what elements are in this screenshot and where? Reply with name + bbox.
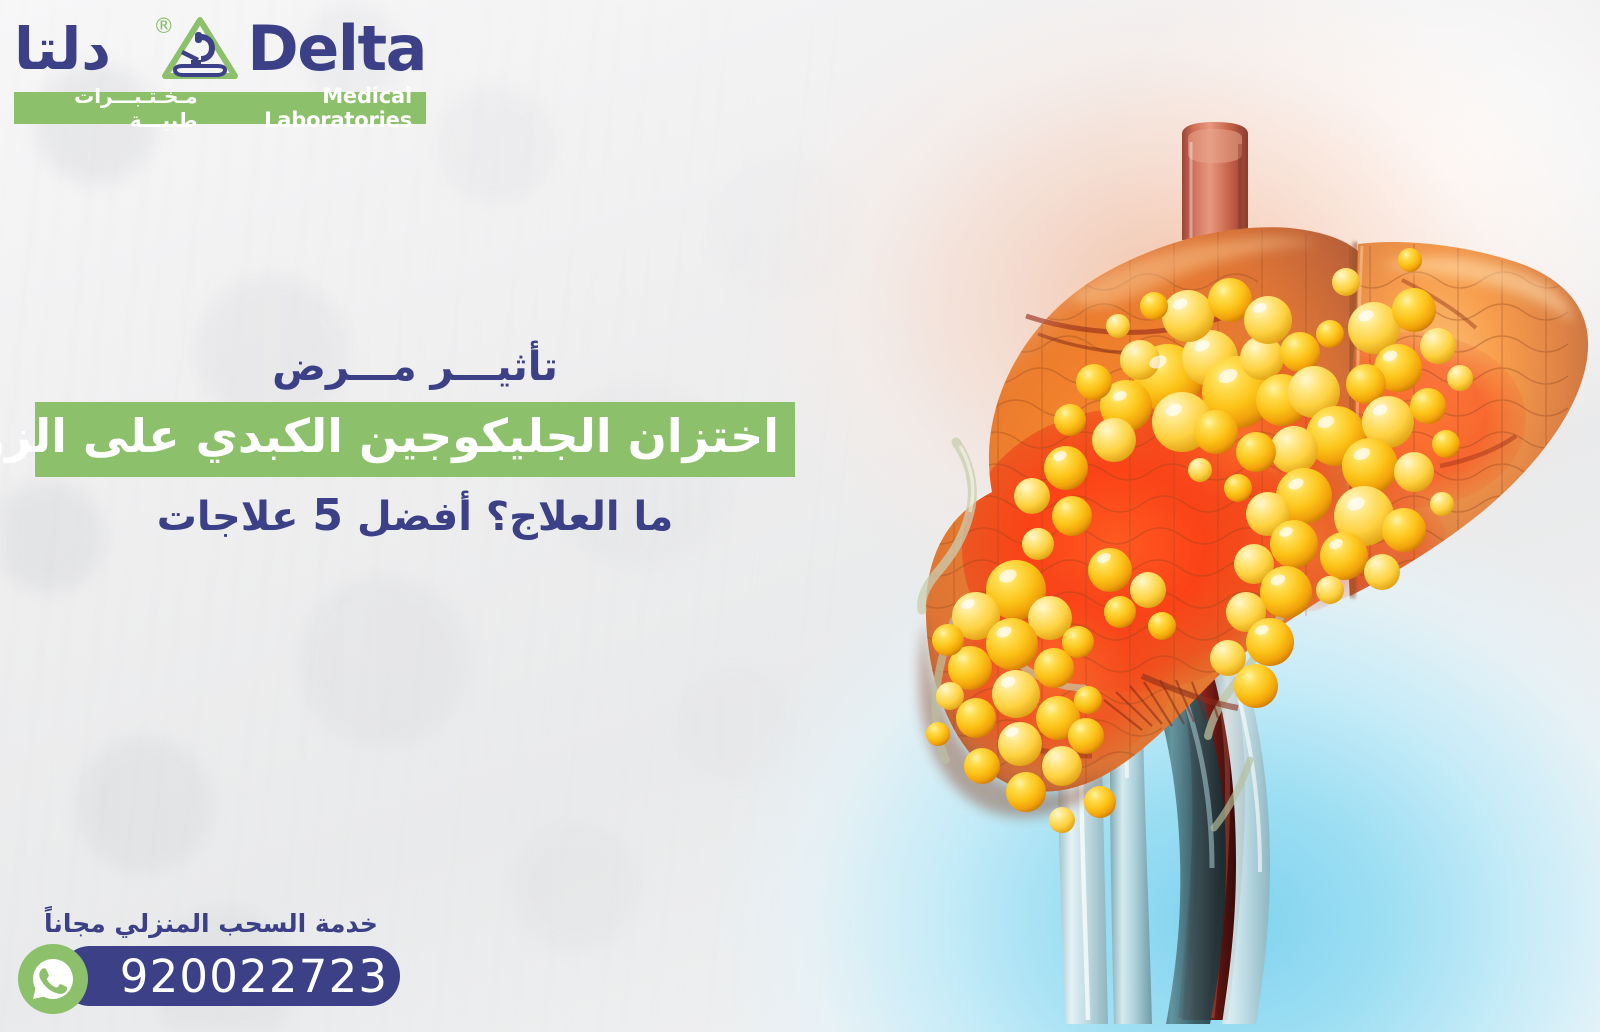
- headline-line-3-prefix: ما العلاج؟ أفضل: [357, 494, 673, 540]
- headline-treatment-count: 5: [312, 490, 343, 541]
- whatsapp-icon[interactable]: [18, 944, 88, 1014]
- headline-block: تأثيـــر مـــرض اختزان الجليكوجين الكبدي…: [35, 344, 795, 541]
- registered-trademark-icon: ®: [153, 16, 174, 37]
- home-service-caption: خدمة السحب المنزلي مجاناً: [18, 909, 418, 938]
- brand-logo[interactable]: Delta ® دلتا: [14, 8, 426, 124]
- logo-wordmark-latin: Delta: [247, 18, 426, 80]
- logo-tagline-arabic: مـخـتـبـــرات طبيـــة: [24, 84, 198, 132]
- contact-block: خدمة السحب المنزلي مجاناً 920022723: [18, 909, 418, 1010]
- microscope-triangle-icon: ®: [155, 14, 239, 84]
- logo-top-row: Delta ® دلتا: [14, 8, 426, 90]
- phone-number-text: 920022723: [120, 954, 388, 999]
- headline-line-3: ما العلاج؟ أفضل 5 علاجات: [35, 491, 795, 542]
- headline-line-1: تأثيـــر مـــرض: [35, 344, 795, 390]
- logo-tagline-latin: Medical Laboratories: [198, 84, 412, 132]
- headline-line-3-suffix: علاجات: [157, 494, 299, 540]
- phone-number-pill[interactable]: 920022723: [60, 946, 400, 1006]
- logo-wordmark-arabic: دلتا: [14, 20, 111, 78]
- phone-contact-row[interactable]: 920022723: [18, 944, 418, 1010]
- headline-highlight-band: اختزان الجليكوجين الكبدي على الزواج: [35, 402, 795, 477]
- poster-canvas: Delta ® دلتا: [0, 0, 1600, 1032]
- logo-tagline-band: Medical Laboratories مـخـتـبـــرات طبيــ…: [14, 92, 426, 124]
